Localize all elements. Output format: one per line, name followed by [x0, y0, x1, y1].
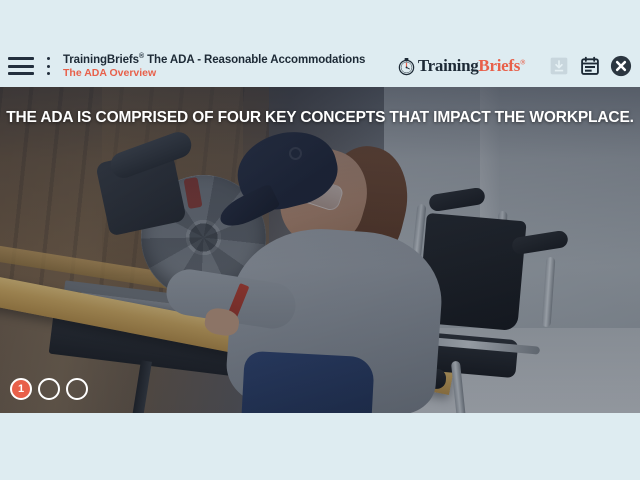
kebab-dot [47, 57, 50, 60]
download-glyph [549, 56, 569, 76]
download-icon [548, 55, 570, 77]
header-actions: TrainingBriefs® [397, 55, 632, 77]
pagination-dot-1[interactable]: 1 [10, 378, 32, 400]
scene-overlay-tint [0, 87, 640, 413]
close-glyph [610, 55, 632, 77]
hamburger-line [8, 57, 34, 60]
course-title-rest: The ADA - Reasonable Accommodations [144, 54, 365, 66]
video-stage[interactable]: THE ADA IS COMPRISED OF FOUR KEY CONCEPT… [0, 87, 640, 413]
stopwatch-icon [397, 57, 416, 76]
header-content: TrainingBriefs® The ADA - Reasonable Acc… [0, 45, 640, 87]
app-header: TrainingBriefs® The ADA - Reasonable Acc… [0, 0, 640, 87]
brand-logo: TrainingBriefs® [397, 56, 525, 76]
course-title-brand: TrainingBriefs [63, 54, 139, 66]
hamburger-line [8, 72, 34, 75]
bottom-filler [0, 413, 640, 480]
notes-icon[interactable] [579, 55, 601, 77]
hamburger-menu-icon[interactable] [8, 57, 34, 75]
course-title: TrainingBriefs® The ADA - Reasonable Acc… [63, 53, 365, 66]
pagination-dots: 1 [10, 378, 94, 400]
brand-word-briefs: Briefs [478, 56, 520, 75]
notes-glyph [580, 56, 600, 76]
pagination-dot-3[interactable] [66, 378, 88, 400]
slide-headline: THE ADA IS COMPRISED OF FOUR KEY CONCEPT… [0, 109, 640, 127]
more-options-icon[interactable] [43, 57, 53, 75]
kebab-dot [47, 65, 50, 68]
course-title-block: TrainingBriefs® The ADA - Reasonable Acc… [63, 53, 365, 79]
scene-image [0, 87, 640, 413]
brand-word-training: Training [418, 56, 479, 75]
player-window: TrainingBriefs® The ADA - Reasonable Acc… [0, 0, 640, 480]
brand-wordmark: TrainingBriefs® [418, 56, 525, 76]
hamburger-line [8, 65, 34, 68]
lesson-subtitle: The ADA Overview [63, 68, 365, 79]
pagination-dot-2[interactable] [38, 378, 60, 400]
kebab-dot [47, 72, 50, 75]
brand-registered-mark: ® [520, 58, 525, 66]
close-icon[interactable] [610, 55, 632, 77]
